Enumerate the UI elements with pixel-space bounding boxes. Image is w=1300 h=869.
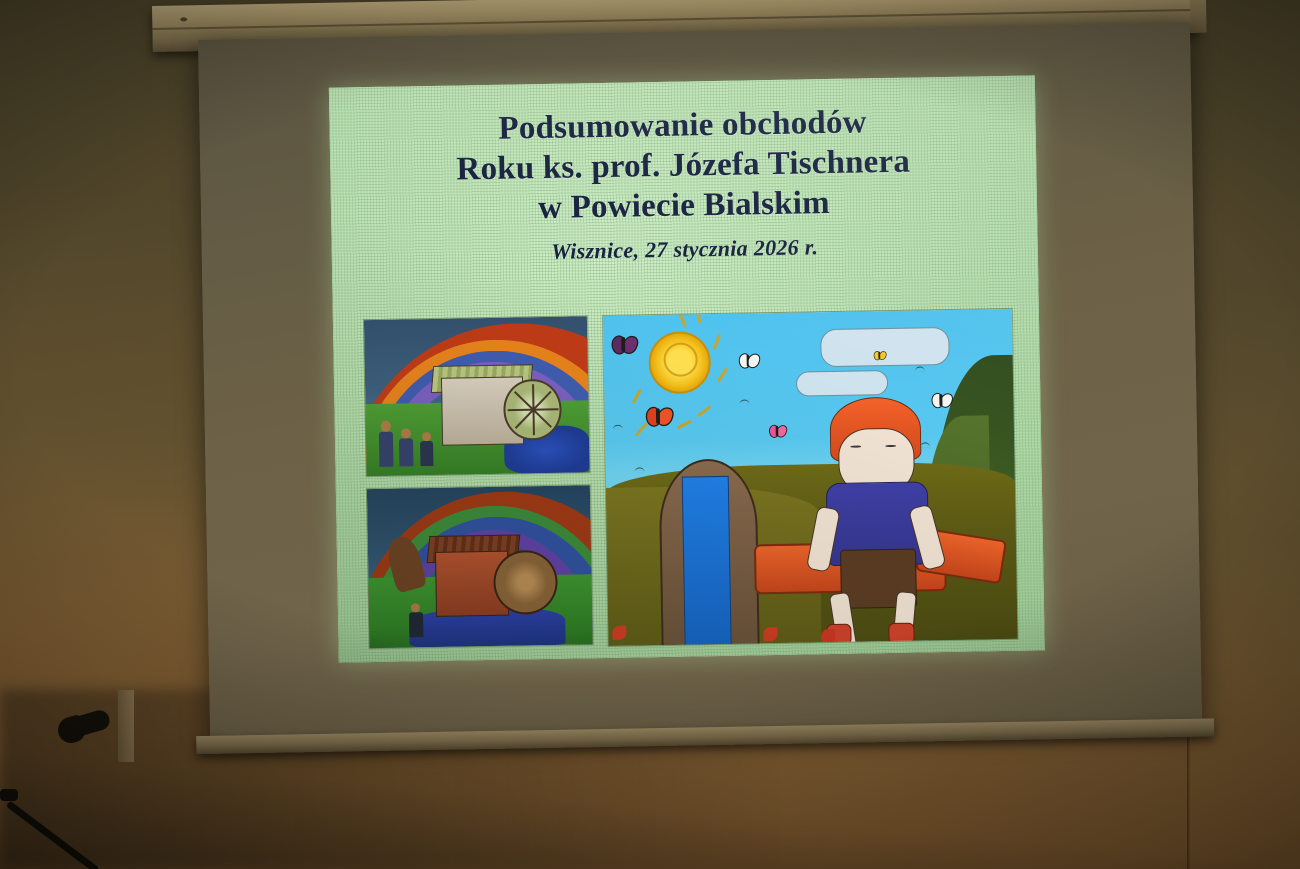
projected-slide: Podsumowanie obchodów Roku ks. prof. Józ… (329, 75, 1045, 662)
d3-cloud-2 (796, 370, 888, 397)
d3-boy-eye-left (850, 445, 862, 448)
mic-capsule-icon (62, 708, 112, 740)
d1-figure-2 (399, 438, 413, 466)
d3-waterfall (681, 475, 731, 646)
artwork-right-column (602, 308, 1019, 645)
d3-boy-shoe-right (889, 622, 915, 643)
d3-flower-3 (821, 629, 835, 643)
projection-screen[interactable]: Podsumowanie obchodów Roku ks. prof. Józ… (198, 23, 1202, 740)
d1-figure-3 (420, 441, 434, 466)
d3-flower-2 (764, 626, 778, 640)
d1-figure-1 (379, 432, 393, 467)
casing-endcap (1190, 0, 1207, 33)
slide-subtitle: Wisznice, 27 stycznia 2026 r. (332, 230, 1038, 268)
d3-cloud-1 (820, 326, 949, 367)
artwork-image-watermill-light (363, 315, 591, 477)
artwork-left-column (363, 315, 594, 649)
casing-screw (180, 17, 187, 21)
d3-boy (809, 396, 944, 636)
d1-mill-wheel (503, 379, 562, 440)
d3-bird-4 (915, 366, 925, 371)
microphone-on-boom-stand[interactable] (0, 690, 240, 869)
d3-bird-2 (613, 425, 623, 430)
artwork-image-boy-waterfall (602, 308, 1019, 647)
door-jamb (118, 690, 134, 762)
d2-figure-1 (409, 612, 423, 638)
slide-title-block: Podsumowanie obchodów Roku ks. prof. Józ… (329, 99, 1038, 268)
mic-boom-arm (6, 801, 100, 869)
room-scene: Podsumowanie obchodów Roku ks. prof. Józ… (0, 0, 1300, 869)
d3-bird-1 (739, 399, 749, 404)
mic-stand-clip (0, 789, 18, 801)
artwork-image-watermill-dark (366, 484, 594, 649)
d3-canvas (603, 309, 1018, 646)
d3-sun (648, 331, 711, 394)
d3-boy-eye-right (885, 444, 897, 447)
d3-bird-3 (634, 467, 644, 472)
slide-artwork-row (363, 308, 1019, 649)
